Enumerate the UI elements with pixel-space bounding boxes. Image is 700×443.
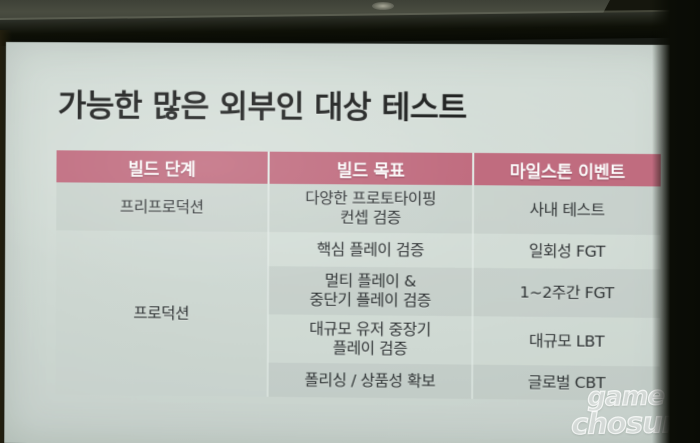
cell-goal-prototyping: 다양한 프로토타이핑 컨셉 검증 xyxy=(268,184,473,234)
column-header-milestone: 마일스톤 이벤트 xyxy=(473,153,661,187)
goal-line-1: 대규모 유저 중장기 xyxy=(309,320,431,339)
column-header-build-stage: 빌드 단계 xyxy=(56,150,268,183)
cell-milestone-onetime-fgt: 일회성 FGT xyxy=(473,234,661,270)
cell-stage-preproduction: 프리프로덕션 xyxy=(56,182,268,232)
goal-line-1: 다양한 프로토타이핑 xyxy=(305,189,436,208)
ceiling-light-icon xyxy=(372,2,394,10)
slide-title: 가능한 많은 외부인 대상 테스트 xyxy=(58,80,467,127)
cell-milestone-global-cbt: 글로벌 CBT xyxy=(472,365,660,401)
cell-goal-multiplay: 멀티 플레이 & 중단기 플레이 검증 xyxy=(268,266,473,316)
cell-goal-core-play: 핵심 플레이 검증 xyxy=(268,232,473,268)
photograph-of-projected-slide: 가능한 많은 외부인 대상 테스트 빌드 단계 빌드 목표 마일스톤 이벤트 프… xyxy=(0,0,700,443)
goal-line-2: 플레이 검증 xyxy=(333,339,408,358)
table-row: 프리프로덕션 다양한 프로토타이핑 컨셉 검증 사내 테스트 xyxy=(56,182,660,235)
right-shadow-edge xyxy=(652,0,700,443)
presentation-slide: 가능한 많은 외부인 대상 테스트 빌드 단계 빌드 목표 마일스톤 이벤트 프… xyxy=(4,42,677,443)
goal-line-2: 컨셉 검증 xyxy=(340,208,401,227)
cell-milestone-internal-test: 사내 테스트 xyxy=(473,185,661,235)
column-header-build-goal: 빌드 목표 xyxy=(269,152,474,186)
table-row: 프로덕션 핵심 플레이 검증 일회성 FGT xyxy=(56,230,660,269)
build-phase-table: 빌드 단계 빌드 목표 마일스톤 이벤트 프리프로덕션 다양한 프로토타이핑 컨… xyxy=(56,150,661,401)
table-header-row: 빌드 단계 빌드 목표 마일스톤 이벤트 xyxy=(56,150,660,186)
cell-stage-production: 프로덕션 xyxy=(56,230,269,396)
cell-milestone-large-lbt: 대규모 LBT xyxy=(472,316,660,366)
goal-line-2: 중단기 플레이 검증 xyxy=(309,291,431,310)
goal-line-1: 멀티 플레이 & xyxy=(325,272,416,291)
cell-goal-largescale-longterm: 대규모 유저 중장기 플레이 검증 xyxy=(268,314,473,364)
cell-milestone-1to2week-fgt: 1~2주간 FGT xyxy=(473,268,661,318)
cell-goal-polishing: 폴리싱 / 상품성 확보 xyxy=(268,363,473,399)
